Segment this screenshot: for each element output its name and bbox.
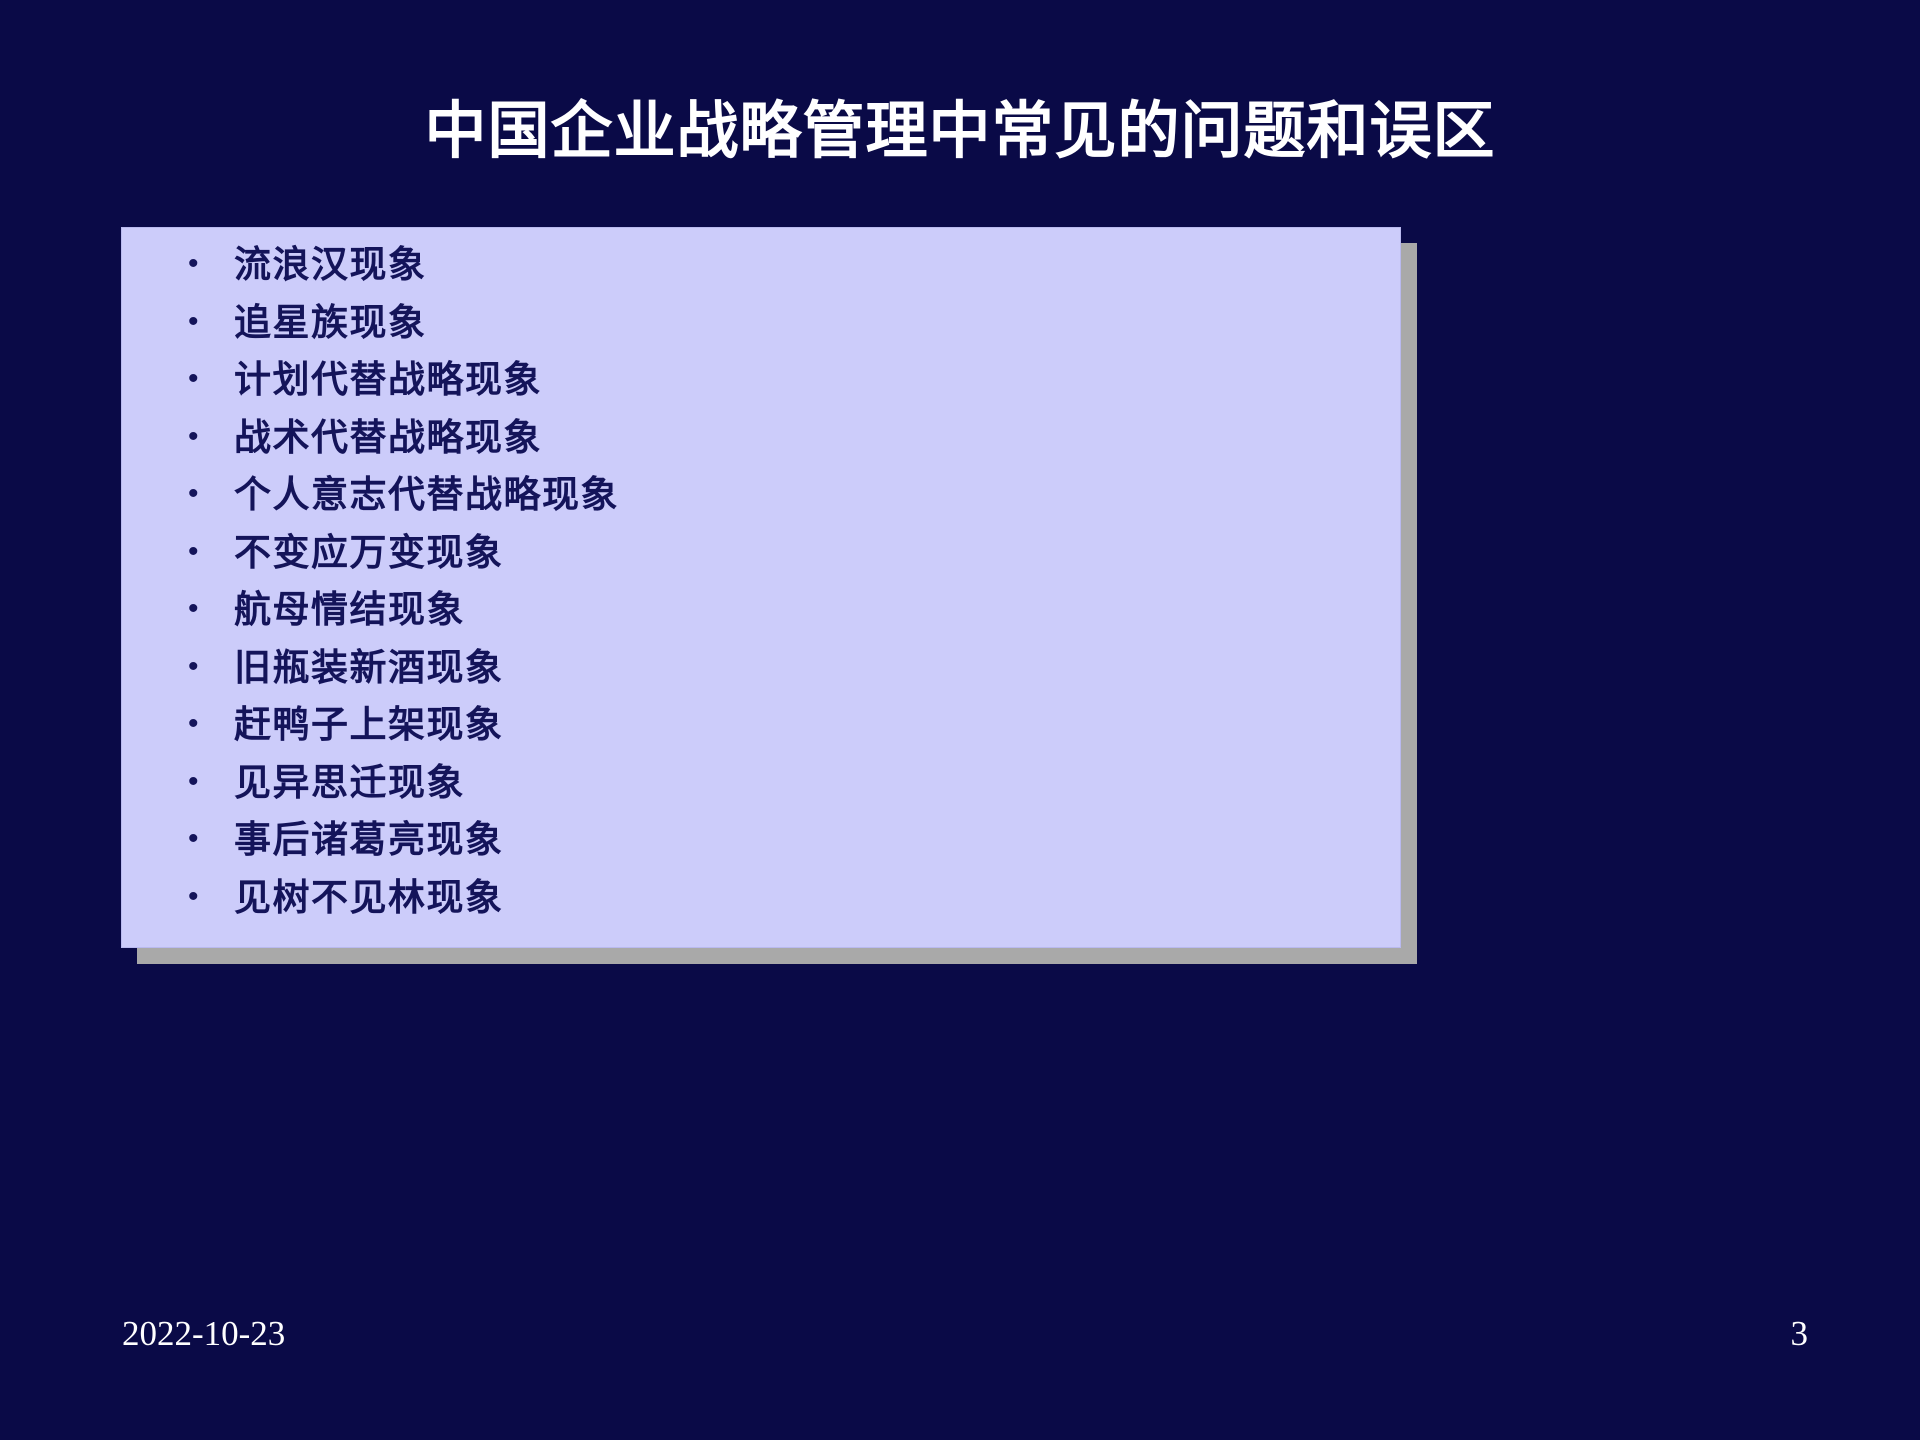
list-item-label: 航母情结现象 — [234, 581, 465, 639]
list-item-label: 见异思迁现象 — [234, 754, 465, 812]
list-item-label: 旧瓶装新酒现象 — [234, 639, 504, 697]
list-item-label: 流浪汉现象 — [234, 236, 427, 294]
list-item[interactable]: • 计划代替战略现象 — [122, 351, 1400, 409]
list-item[interactable]: • 航母情结现象 — [122, 581, 1400, 639]
bullet-point-icon: • — [188, 709, 234, 739]
bullet-point-icon: • — [188, 479, 234, 509]
list-item[interactable]: • 赶鸭子上架现象 — [122, 696, 1400, 754]
bullet-point-icon: • — [188, 537, 234, 567]
bullet-point-icon: • — [188, 364, 234, 394]
bullet-point-icon: • — [188, 824, 234, 854]
bullet-point-icon: • — [188, 307, 234, 337]
footer-page-number: 3 — [1791, 1316, 1809, 1351]
list-item[interactable]: • 追星族现象 — [122, 294, 1400, 352]
list-item-label: 事后诸葛亮现象 — [234, 811, 504, 869]
slide-title: 中国企业战略管理中常见的问题和误区 — [0, 96, 1920, 165]
bullet-point-icon: • — [188, 882, 234, 912]
list-item[interactable]: • 流浪汉现象 — [122, 236, 1400, 294]
bullet-point-icon: • — [188, 594, 234, 624]
list-item[interactable]: • 见异思迁现象 — [122, 754, 1400, 812]
list-item-label: 个人意志代替战略现象 — [234, 466, 619, 524]
footer-date: 2022-10-23 — [122, 1316, 285, 1351]
bullet-point-icon: • — [188, 652, 234, 682]
list-item-label: 战术代替战略现象 — [234, 409, 542, 467]
list-item-label: 不变应万变现象 — [234, 524, 504, 582]
list-item[interactable]: • 事后诸葛亮现象 — [122, 811, 1400, 869]
list-item-label: 计划代替战略现象 — [234, 351, 542, 409]
bullet-point-icon: • — [188, 422, 234, 452]
list-item[interactable]: • 见树不见林现象 — [122, 869, 1400, 927]
list-item-label: 赶鸭子上架现象 — [234, 696, 504, 754]
list-item-label: 见树不见林现象 — [234, 869, 504, 927]
bullet-point-icon: • — [188, 767, 234, 797]
content-box: • 流浪汉现象 • 追星族现象 • 计划代替战略现象 • 战术代替战略现象 • … — [121, 227, 1401, 948]
bullet-list: • 流浪汉现象 • 追星族现象 • 计划代替战略现象 • 战术代替战略现象 • … — [122, 236, 1400, 926]
list-item-label: 追星族现象 — [234, 294, 427, 352]
bullet-point-icon: • — [188, 249, 234, 279]
list-item[interactable]: • 旧瓶装新酒现象 — [122, 639, 1400, 697]
list-item[interactable]: • 个人意志代替战略现象 — [122, 466, 1400, 524]
list-item[interactable]: • 不变应万变现象 — [122, 524, 1400, 582]
list-item[interactable]: • 战术代替战略现象 — [122, 409, 1400, 467]
presentation-slide: 中国企业战略管理中常见的问题和误区 • 流浪汉现象 • 追星族现象 • 计划代替… — [0, 0, 1920, 1440]
